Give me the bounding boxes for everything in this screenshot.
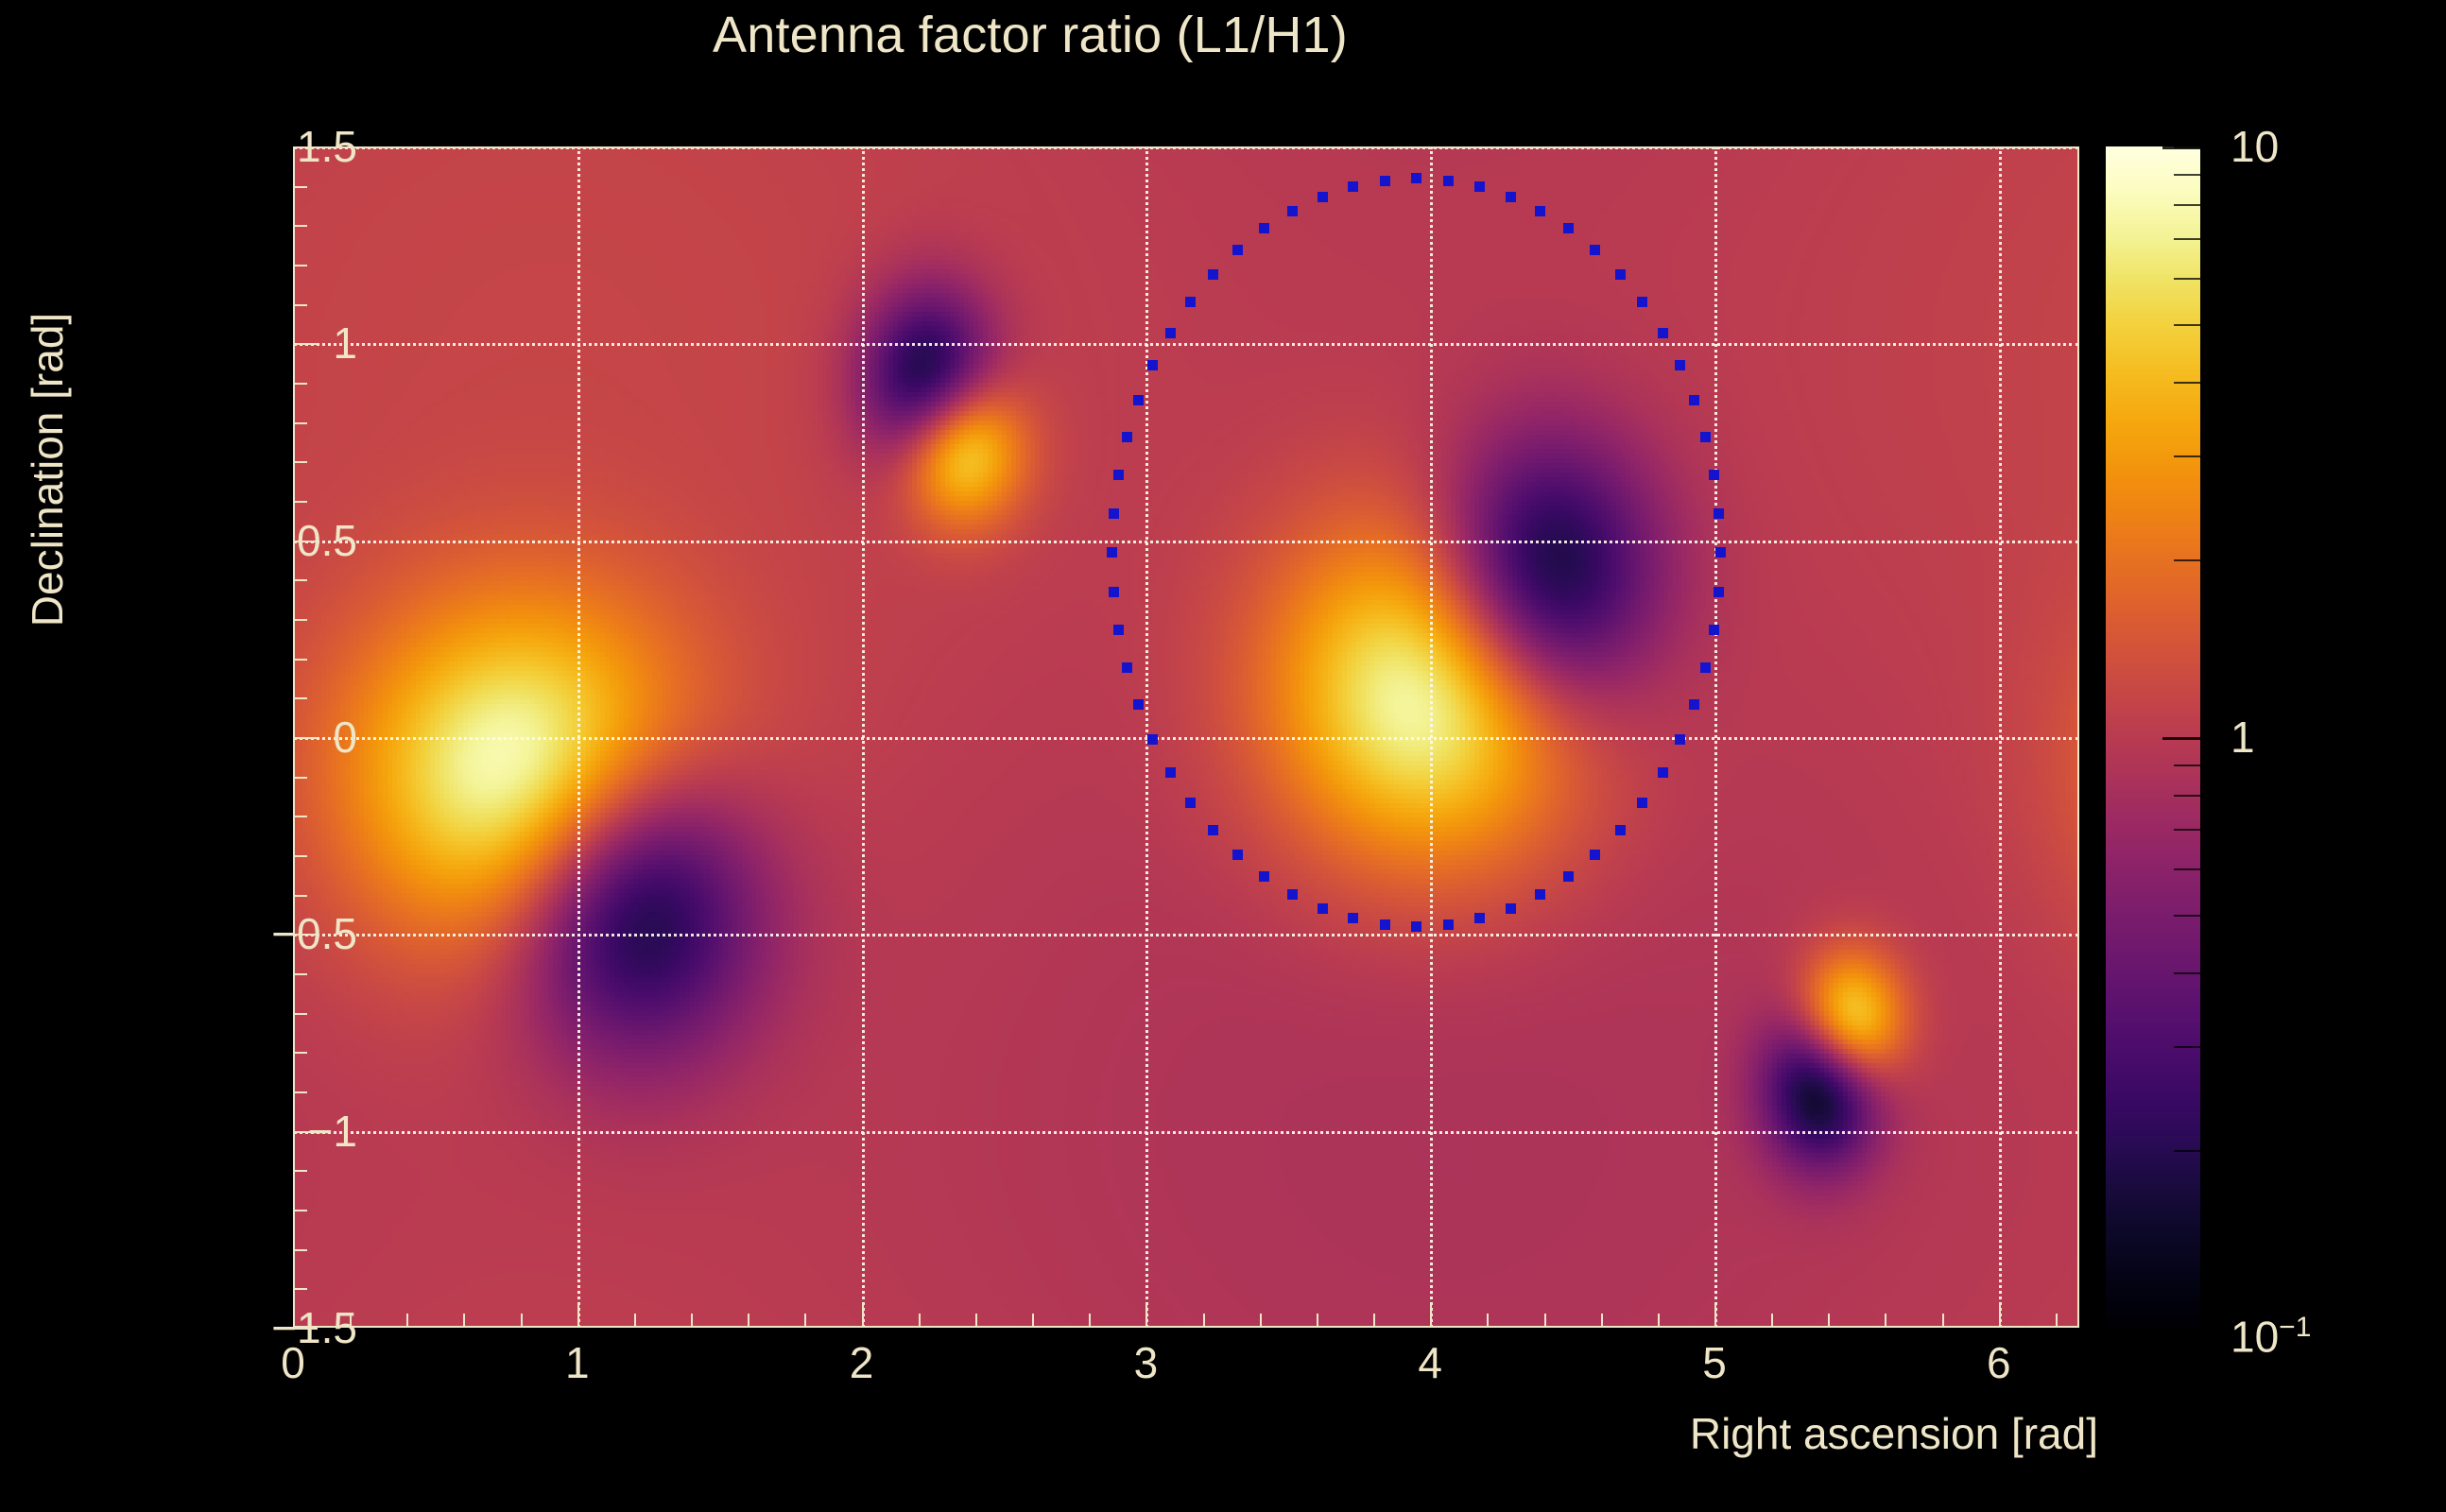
x-tick-minor bbox=[1487, 1314, 1489, 1328]
contour-marker bbox=[1506, 903, 1516, 914]
y-tick-minor bbox=[293, 973, 307, 975]
x-tick-minor bbox=[463, 1314, 465, 1328]
contour-marker bbox=[1563, 223, 1574, 233]
contour-marker bbox=[1590, 245, 1600, 255]
x-tick-minor bbox=[1373, 1314, 1375, 1328]
y-tick-label-4: −0.5 bbox=[112, 909, 357, 958]
y-tick-label-3: 0 bbox=[112, 713, 357, 762]
x-tick-minor bbox=[691, 1314, 693, 1328]
y-tick-minor bbox=[293, 659, 307, 661]
y-tick-minor bbox=[293, 579, 307, 581]
contour-marker bbox=[1348, 913, 1358, 923]
y-tick-minor bbox=[293, 1288, 307, 1290]
x-tick-minor bbox=[748, 1314, 749, 1328]
y-tick-minor bbox=[293, 1052, 307, 1054]
contour-marker bbox=[1287, 206, 1298, 216]
contour-marker bbox=[1443, 176, 1454, 186]
y-tick-minor bbox=[293, 461, 307, 463]
colorbar-tick-major-1 bbox=[2162, 737, 2200, 740]
contour-marker bbox=[1675, 734, 1685, 745]
x-tick-minor bbox=[406, 1314, 408, 1328]
y-tick-label-2: 0.5 bbox=[112, 516, 357, 565]
contour-marker bbox=[1474, 181, 1485, 192]
contour-marker bbox=[1535, 206, 1545, 216]
contour-marker bbox=[1380, 919, 1390, 930]
x-tick-minor bbox=[577, 1303, 579, 1328]
x-tick-label-4: 4 bbox=[1373, 1337, 1487, 1388]
contour-marker bbox=[1348, 181, 1358, 192]
colorbar-tick-minor bbox=[2174, 829, 2200, 831]
x-tick-minor bbox=[634, 1314, 636, 1328]
contour-marker bbox=[1714, 587, 1724, 597]
y-tick-minor bbox=[293, 265, 307, 266]
x-tick-minor bbox=[1999, 1303, 2001, 1328]
colorbar-tick-minor bbox=[2174, 238, 2200, 240]
contour-marker bbox=[1615, 269, 1626, 280]
contour-marker bbox=[1259, 871, 1269, 882]
colorbar-label-1: 1 bbox=[2231, 713, 2255, 762]
y-tick-minor bbox=[293, 777, 307, 779]
contour-marker bbox=[1318, 903, 1328, 914]
contour-marker bbox=[1232, 850, 1243, 860]
contour-marker bbox=[1147, 360, 1158, 370]
x-tick-minor bbox=[1942, 1314, 1944, 1328]
colorbar-tick-minor bbox=[2174, 455, 2200, 457]
y-tick-minor bbox=[293, 816, 307, 817]
y-tick-label-6: −1.5 bbox=[112, 1303, 357, 1352]
y-tick-minor bbox=[293, 186, 307, 188]
y-tick-minor bbox=[293, 1210, 307, 1211]
contour-marker bbox=[1109, 508, 1119, 519]
contour-marker bbox=[1615, 825, 1626, 835]
contour-marker bbox=[1287, 889, 1298, 900]
contour-marker bbox=[1147, 734, 1158, 745]
x-tick-label-6: 6 bbox=[1942, 1337, 2056, 1388]
y-tick-minor bbox=[293, 855, 307, 857]
colorbar-tick-major-0 bbox=[2162, 146, 2200, 149]
colorbar-tick-major-2 bbox=[2162, 1328, 2200, 1331]
contour-marker bbox=[1113, 625, 1124, 635]
x-tick-minor bbox=[1601, 1314, 1603, 1328]
page-title: Antenna factor ratio (L1/H1) bbox=[0, 6, 2060, 64]
y-tick-label-0: 1.5 bbox=[112, 122, 357, 171]
x-tick-minor bbox=[1544, 1314, 1546, 1328]
contour-marker bbox=[1709, 470, 1719, 480]
contour-marker bbox=[1637, 297, 1647, 307]
contour-marker bbox=[1590, 850, 1600, 860]
contour-marker bbox=[1232, 245, 1243, 255]
contour-marker bbox=[1709, 625, 1719, 635]
y-tick-minor bbox=[293, 895, 307, 897]
colorbar-tick-minor bbox=[2174, 1150, 2200, 1152]
contour-marker bbox=[1714, 508, 1724, 519]
contour-marker bbox=[1700, 662, 1711, 673]
x-tick-label-3: 3 bbox=[1089, 1337, 1202, 1388]
contour-marker bbox=[1113, 470, 1124, 480]
x-tick-minor bbox=[521, 1314, 523, 1328]
x-tick-minor bbox=[1658, 1314, 1660, 1328]
x-tick-minor bbox=[1430, 1303, 1432, 1328]
contour-marker bbox=[1675, 360, 1685, 370]
y-tick-minor bbox=[293, 501, 307, 503]
contour-marker bbox=[1658, 328, 1668, 338]
y-tick-label-1: 1 bbox=[112, 318, 357, 368]
x-tick-minor bbox=[1203, 1314, 1205, 1328]
y-tick-minor bbox=[293, 304, 307, 306]
contour-marker bbox=[1208, 825, 1218, 835]
heatmap-plot-area bbox=[293, 146, 2079, 1328]
contour-marker bbox=[1715, 547, 1726, 558]
contour-marker bbox=[1107, 547, 1117, 558]
y-tick-minor bbox=[293, 1249, 307, 1251]
x-tick-minor bbox=[1828, 1314, 1830, 1328]
x-tick-minor bbox=[1089, 1314, 1091, 1328]
contour-marker bbox=[1411, 173, 1421, 183]
y-tick-minor bbox=[293, 1091, 307, 1093]
x-tick-minor bbox=[1771, 1314, 1773, 1328]
y-tick-minor bbox=[293, 619, 307, 621]
contour-marker bbox=[1133, 395, 1144, 405]
y-tick-minor bbox=[293, 1170, 307, 1172]
contour-marker bbox=[1689, 395, 1699, 405]
heatmap-canvas bbox=[293, 146, 2079, 1328]
contour-marker bbox=[1380, 176, 1390, 186]
y-tick-minor bbox=[293, 383, 307, 385]
colorbar-tick-minor bbox=[2174, 765, 2200, 766]
contour-marker bbox=[1318, 192, 1328, 202]
contour-marker bbox=[1133, 699, 1144, 710]
contour-marker bbox=[1165, 328, 1176, 338]
contour-marker bbox=[1637, 798, 1647, 808]
x-tick-minor bbox=[804, 1314, 806, 1328]
x-axis-title: Right ascension [rad] bbox=[1342, 1408, 2098, 1459]
contour-marker bbox=[1700, 432, 1711, 442]
y-tick-minor bbox=[293, 225, 307, 227]
x-tick-minor bbox=[1032, 1314, 1034, 1328]
colorbar-label-2: 10−1 bbox=[2231, 1303, 2311, 1352]
contour-marker bbox=[1474, 913, 1485, 923]
y-tick-minor bbox=[293, 1013, 307, 1015]
colorbar-tick-minor bbox=[2174, 915, 2200, 917]
contour-marker bbox=[1563, 871, 1574, 882]
contour-marker bbox=[1109, 587, 1119, 597]
contour-marker bbox=[1165, 767, 1176, 778]
contour-marker bbox=[1122, 662, 1132, 673]
colorbar-tick-minor bbox=[2174, 795, 2200, 797]
colorbar-tick-minor bbox=[2174, 972, 2200, 974]
x-tick-label-1: 1 bbox=[521, 1337, 634, 1388]
contour-marker bbox=[1535, 889, 1545, 900]
x-tick-label-5: 5 bbox=[1658, 1337, 1771, 1388]
x-tick-minor bbox=[1317, 1314, 1318, 1328]
colorbar-tick-minor bbox=[2174, 1046, 2200, 1048]
x-tick-minor bbox=[975, 1314, 977, 1328]
colorbar-tick-minor bbox=[2174, 382, 2200, 384]
contour-marker bbox=[1411, 921, 1421, 932]
y-axis-title: Declination [rad] bbox=[22, 186, 73, 753]
colorbar-tick-minor bbox=[2174, 868, 2200, 870]
y-tick-minor bbox=[293, 422, 307, 424]
x-tick-minor bbox=[919, 1314, 921, 1328]
colorbar-tick-minor bbox=[2174, 559, 2200, 561]
x-tick-minor bbox=[1714, 1303, 1716, 1328]
contour-marker bbox=[1443, 919, 1454, 930]
contour-marker bbox=[1208, 269, 1218, 280]
x-tick-minor bbox=[2056, 1314, 2058, 1328]
x-tick-minor bbox=[1260, 1314, 1262, 1328]
x-tick-minor bbox=[862, 1303, 864, 1328]
contour-marker bbox=[1689, 699, 1699, 710]
contour-marker bbox=[1506, 192, 1516, 202]
x-tick-label-2: 2 bbox=[805, 1337, 919, 1388]
contour-marker bbox=[1122, 432, 1132, 442]
colorbar-tick-minor bbox=[2174, 324, 2200, 326]
colorbar-tick-minor bbox=[2174, 278, 2200, 280]
contour-marker bbox=[1658, 767, 1668, 778]
x-tick-minor bbox=[1145, 1303, 1147, 1328]
contour-marker bbox=[1259, 223, 1269, 233]
colorbar-label-0: 10 bbox=[2231, 122, 2279, 171]
y-tick-label-5: −1 bbox=[112, 1107, 357, 1156]
colorbar-tick-minor bbox=[2174, 174, 2200, 176]
contour-marker bbox=[1185, 297, 1196, 307]
colorbar-tick-minor bbox=[2174, 204, 2200, 206]
x-tick-minor bbox=[1885, 1314, 1886, 1328]
y-tick-minor bbox=[293, 697, 307, 699]
contour-marker bbox=[1185, 798, 1196, 808]
